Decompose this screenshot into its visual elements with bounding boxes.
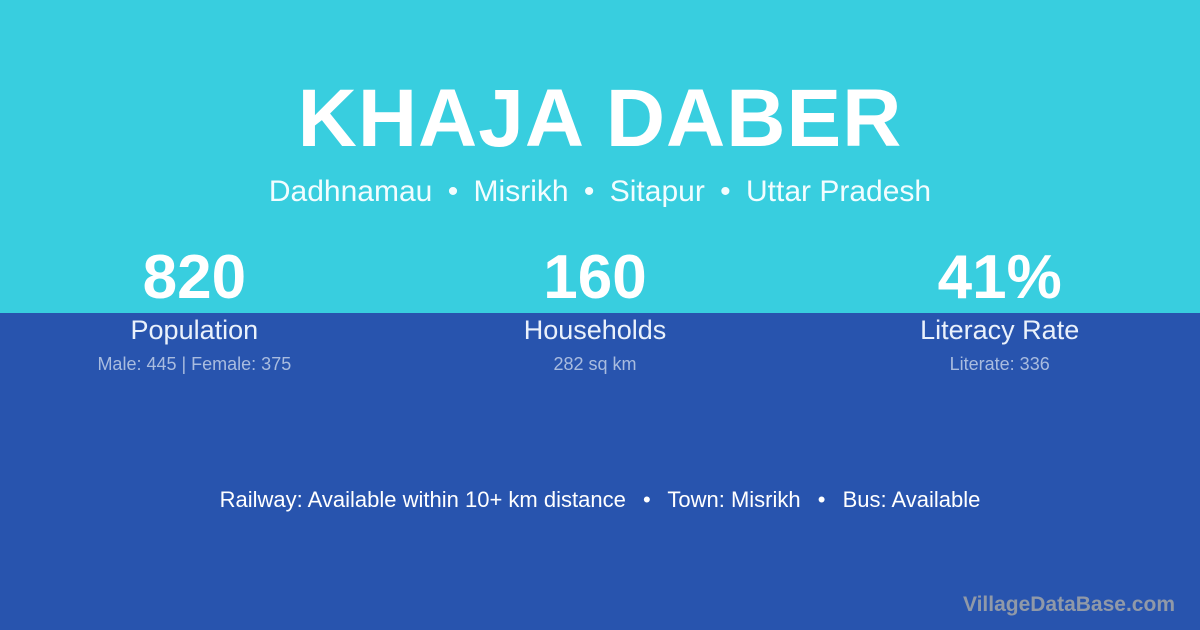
stat-households: 160 Households 282 sq km bbox=[395, 246, 796, 375]
amenity-separator-icon: • bbox=[632, 487, 662, 512]
site-brand-watermark: VillageDataBase.com bbox=[963, 592, 1175, 618]
stat-sub-households: 282 sq km bbox=[395, 353, 796, 375]
stat-literacy-rate: 41% Literacy Rate Literate: 336 bbox=[799, 246, 1200, 375]
page-title: KHAJA DABER bbox=[0, 0, 1200, 160]
stat-population: 820 Population Male: 445 | Female: 375 bbox=[0, 246, 395, 375]
breadcrumb-separator-icon: • bbox=[713, 175, 738, 208]
breadcrumb-item-tehsil: Misrikh bbox=[474, 175, 569, 208]
stat-label-households: Households bbox=[395, 314, 796, 346]
stats-row: 820 Population Male: 445 | Female: 375 1… bbox=[0, 246, 1200, 375]
stat-label-literacy-rate: Literacy Rate bbox=[799, 314, 1200, 346]
village-info-card: KHAJA DABER Dadhnamau • Misrikh • Sitapu… bbox=[0, 0, 1200, 630]
amenity-bus: Bus: Available bbox=[843, 487, 981, 512]
stat-value-population: 820 bbox=[0, 246, 395, 310]
stat-label-population: Population bbox=[0, 314, 395, 346]
stat-value-literacy-rate: 41% bbox=[799, 246, 1200, 310]
breadcrumb-item-district: Sitapur bbox=[610, 175, 705, 208]
stat-sub-population: Male: 445 | Female: 375 bbox=[0, 353, 395, 375]
breadcrumb-item-state: Uttar Pradesh bbox=[746, 175, 931, 208]
breadcrumb-item-block: Dadhnamau bbox=[269, 175, 432, 208]
breadcrumb: Dadhnamau • Misrikh • Sitapur • Uttar Pr… bbox=[0, 160, 1200, 207]
amenities-line: Railway: Available within 10+ km distanc… bbox=[0, 486, 1200, 514]
amenity-separator-icon: • bbox=[807, 487, 837, 512]
amenity-town: Town: Misrikh bbox=[667, 487, 800, 512]
amenity-railway: Railway: Available within 10+ km distanc… bbox=[220, 487, 626, 512]
card-header: KHAJA DABER Dadhnamau • Misrikh • Sitapu… bbox=[0, 0, 1200, 207]
breadcrumb-separator-icon: • bbox=[577, 175, 602, 208]
stat-value-households: 160 bbox=[395, 246, 796, 310]
breadcrumb-separator-icon: • bbox=[441, 175, 466, 208]
stat-sub-literacy-rate: Literate: 336 bbox=[799, 353, 1200, 375]
